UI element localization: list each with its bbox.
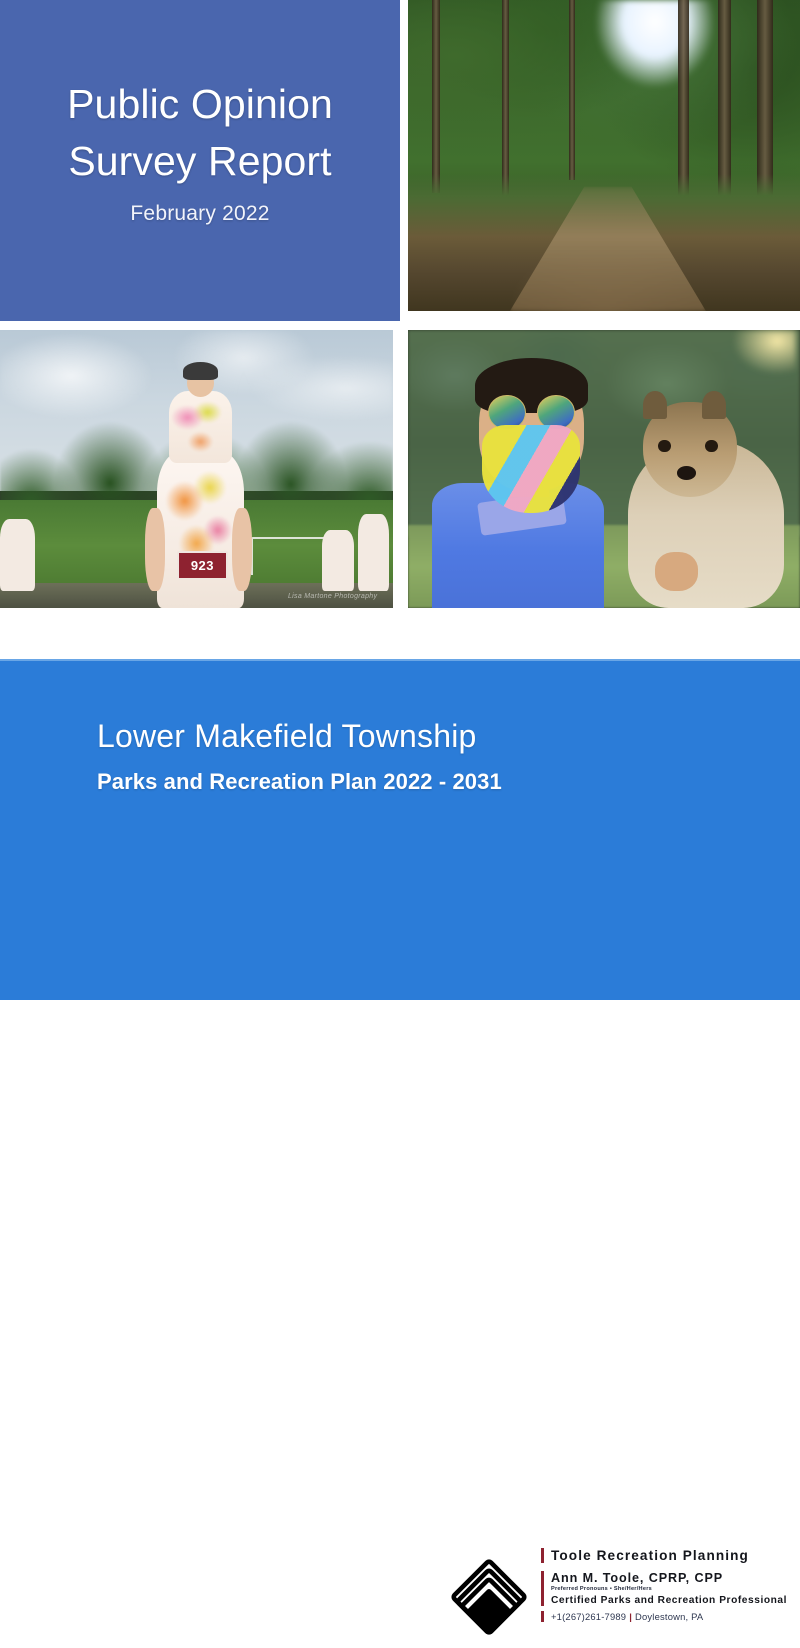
child-cap: [183, 362, 218, 380]
color-run-photo: 923 Lisa Martone Photography: [0, 330, 393, 608]
photo-watermark: Lisa Martone Photography: [288, 593, 377, 600]
logo-person-row: Ann M. Toole, CPRP, CPP Preferred Pronou…: [541, 1570, 793, 1607]
footer-band-text: Lower Makefield Township Parks and Recre…: [97, 717, 502, 795]
face-mask: [482, 425, 580, 514]
race-bib: 923: [177, 551, 228, 580]
logo-location: Doylestown, PA: [635, 1611, 703, 1622]
logo-separator: |: [626, 1611, 635, 1622]
person-with-dog-photo: [408, 330, 800, 608]
race-bib-number: 923: [191, 558, 214, 573]
logo-contact-row: +1(267)261-7989|Doylestown, PA: [541, 1610, 793, 1623]
logo-phone: +1(267)261-7989: [551, 1611, 626, 1622]
dog-ear-left: [643, 391, 667, 419]
footer-band: Lower Makefield Township Parks and Recre…: [0, 659, 800, 1000]
dog-nose: [677, 466, 697, 480]
forest-trail-photo: [408, 0, 800, 311]
page-title-line-1: Public Opinion: [67, 77, 333, 132]
color-powder-splatter: [171, 397, 230, 461]
dog-eye-right: [705, 440, 718, 453]
accent-bar: [541, 1611, 544, 1622]
bystander: [0, 519, 35, 591]
hand-holding-dog: [655, 552, 698, 591]
logo-text-block: Toole Recreation Planning Ann M. Toole, …: [541, 1547, 793, 1647]
logo-company-name: Toole Recreation Planning: [551, 1547, 793, 1564]
page-title-line-2: Survey Report: [68, 134, 331, 189]
toole-diamond-chevron-icon: [443, 1551, 535, 1643]
logo-company-row: Toole Recreation Planning: [541, 1547, 793, 1564]
logo-credential: Certified Parks and Recreation Professio…: [551, 1594, 793, 1607]
bystander: [358, 514, 389, 592]
sunlight-spot: [733, 330, 796, 374]
logo-person-name: Ann M. Toole, CPRP, CPP: [551, 1570, 793, 1586]
publication-date: February 2022: [130, 202, 269, 226]
toole-recreation-planning-logo: Toole Recreation Planning Ann M. Toole, …: [443, 1547, 793, 1647]
accent-bar: [541, 1548, 544, 1563]
dog-eye-left: [658, 440, 671, 453]
accent-bar: [541, 1571, 544, 1606]
band-top-edge: [0, 659, 800, 661]
cover-page: Public Opinion Survey Report February 20…: [0, 0, 800, 1000]
municipality-name: Lower Makefield Township: [97, 717, 502, 755]
tree-trunk: [432, 0, 441, 193]
logo-contact: +1(267)261-7989|Doylestown, PA: [551, 1610, 793, 1623]
bystander: [322, 530, 353, 591]
dog-ear-right: [702, 391, 726, 419]
forest-sky-opening: [596, 0, 714, 87]
title-block: Public Opinion Survey Report February 20…: [0, 0, 400, 321]
logo-pronouns: Preferred Pronouns • She/Her/Hers: [551, 1586, 793, 1593]
plan-name: Parks and Recreation Plan 2022 - 2031: [97, 769, 502, 795]
tree-trunk: [569, 0, 575, 180]
